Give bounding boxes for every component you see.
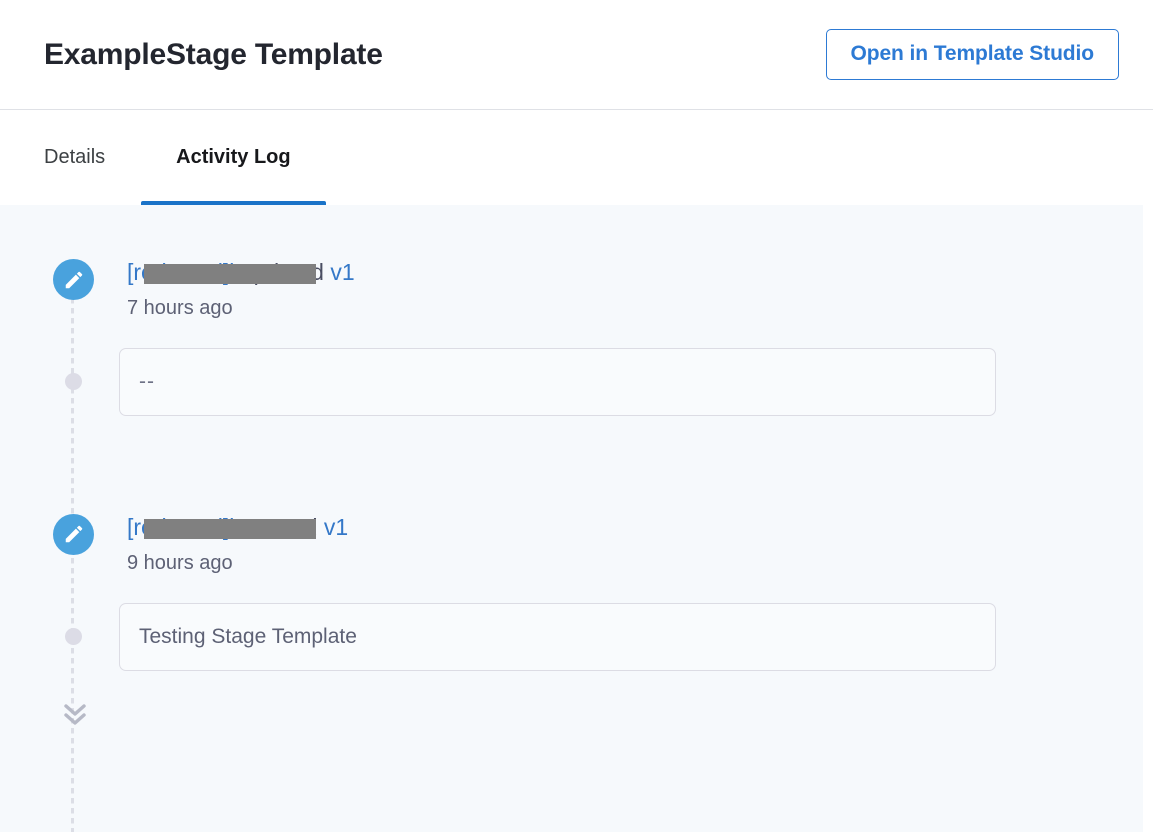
double-chevron-down-icon[interactable] bbox=[59, 701, 91, 729]
activity-entry-body: -- bbox=[53, 348, 1153, 416]
page-header: ExampleStage Template Open in Template S… bbox=[0, 0, 1153, 110]
entry-spacer bbox=[53, 416, 1153, 512]
activity-entry: [redacted]i updated v1 7 hours ago -- bbox=[53, 257, 1153, 416]
activity-entry-header: [redacted]i created v1 9 hours ago bbox=[53, 512, 1153, 575]
redaction-bar bbox=[144, 264, 316, 284]
actor-name-wrapper: [redacted]i bbox=[127, 258, 234, 287]
activity-entry-text: [redacted]i updated v1 7 hours ago bbox=[94, 257, 355, 320]
page-title: ExampleStage Template bbox=[44, 38, 383, 71]
activity-log-panel: [redacted]i updated v1 7 hours ago -- bbox=[0, 205, 1153, 832]
activity-timestamp: 7 hours ago bbox=[127, 296, 355, 320]
timeline-dot bbox=[65, 628, 82, 645]
redaction-bar bbox=[144, 519, 316, 539]
template-detail-page: ExampleStage Template Open in Template S… bbox=[0, 0, 1153, 832]
activity-timestamp: 9 hours ago bbox=[127, 551, 348, 575]
activity-entry-header: [redacted]i updated v1 7 hours ago bbox=[53, 257, 1153, 320]
version-link[interactable]: v1 bbox=[330, 259, 354, 285]
activity-entry-line: [redacted]i created v1 bbox=[127, 513, 348, 542]
activity-comment-text: Testing Stage Template bbox=[139, 623, 357, 650]
activity-comment-box: Testing Stage Template bbox=[119, 603, 996, 671]
tab-activity-log[interactable]: Activity Log bbox=[141, 110, 325, 205]
pencil-icon bbox=[53, 259, 94, 300]
actor-name-wrapper: [redacted]i bbox=[127, 513, 234, 542]
timeline-dot bbox=[65, 373, 82, 390]
activity-entry-body: Testing Stage Template bbox=[53, 603, 1153, 671]
activity-timeline: [redacted]i updated v1 7 hours ago -- bbox=[0, 257, 1153, 729]
activity-entry-text: [redacted]i created v1 9 hours ago bbox=[94, 512, 348, 575]
activity-entry: [redacted]i created v1 9 hours ago Testi… bbox=[53, 512, 1153, 671]
activity-entry-line: [redacted]i updated v1 bbox=[127, 258, 355, 287]
tab-bar: Details Activity Log bbox=[0, 110, 1153, 205]
tab-details[interactable]: Details bbox=[44, 110, 141, 205]
pencil-icon bbox=[53, 514, 94, 555]
version-link[interactable]: v1 bbox=[324, 514, 348, 540]
activity-comment-box: -- bbox=[119, 348, 996, 416]
open-in-template-studio-button[interactable]: Open in Template Studio bbox=[826, 29, 1120, 79]
activity-comment-text: -- bbox=[139, 368, 155, 395]
